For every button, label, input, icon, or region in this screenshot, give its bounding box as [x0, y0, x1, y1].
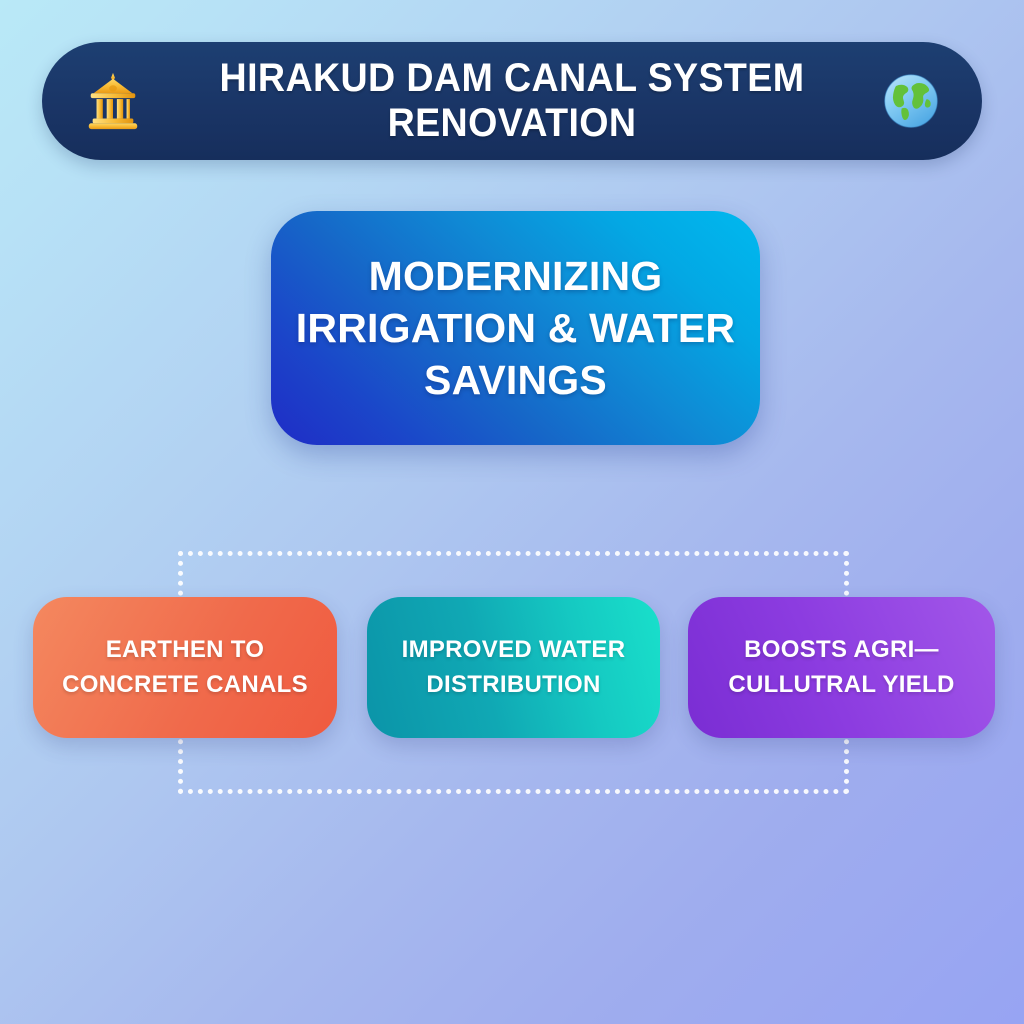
header-banner: HIRAKUD DAM CANAL SYSTEM RENOVATION: [42, 42, 982, 160]
page-title: HIRAKUD DAM CANAL SYSTEM RENOVATION: [172, 56, 853, 146]
main-headline-text: MODERNIZING IRRIGATION & WATER SAVINGS: [271, 250, 760, 406]
feature-card-improved-water-distribution: IMPROVED WATER DISTRIBUTION: [367, 597, 660, 738]
main-headline-card: MODERNIZING IRRIGATION & WATER SAVINGS: [271, 211, 760, 445]
feature-card-label: BOOSTS AGRI—CULLUTRAL YIELD: [688, 633, 995, 701]
feature-card-earthen-to-concrete-canals: EARTHEN TO CONCRETE CANALS: [33, 597, 337, 738]
globe-earth-icon: [874, 64, 948, 138]
infographic-poster: HIRAKUD DAM CANAL SYSTEM RENOVATION: [0, 0, 1024, 1024]
classical-building-icon: [76, 64, 150, 138]
feature-card-label: EARTHEN TO CONCRETE CANALS: [33, 633, 337, 701]
feature-card-row: EARTHEN TO CONCRETE CANALS IMPROVED WATE…: [0, 597, 1024, 738]
feature-card-label: IMPROVED WATER DISTRIBUTION: [367, 633, 660, 701]
feature-card-boosts-agricultural-yield: BOOSTS AGRI—CULLUTRAL YIELD: [688, 597, 995, 738]
